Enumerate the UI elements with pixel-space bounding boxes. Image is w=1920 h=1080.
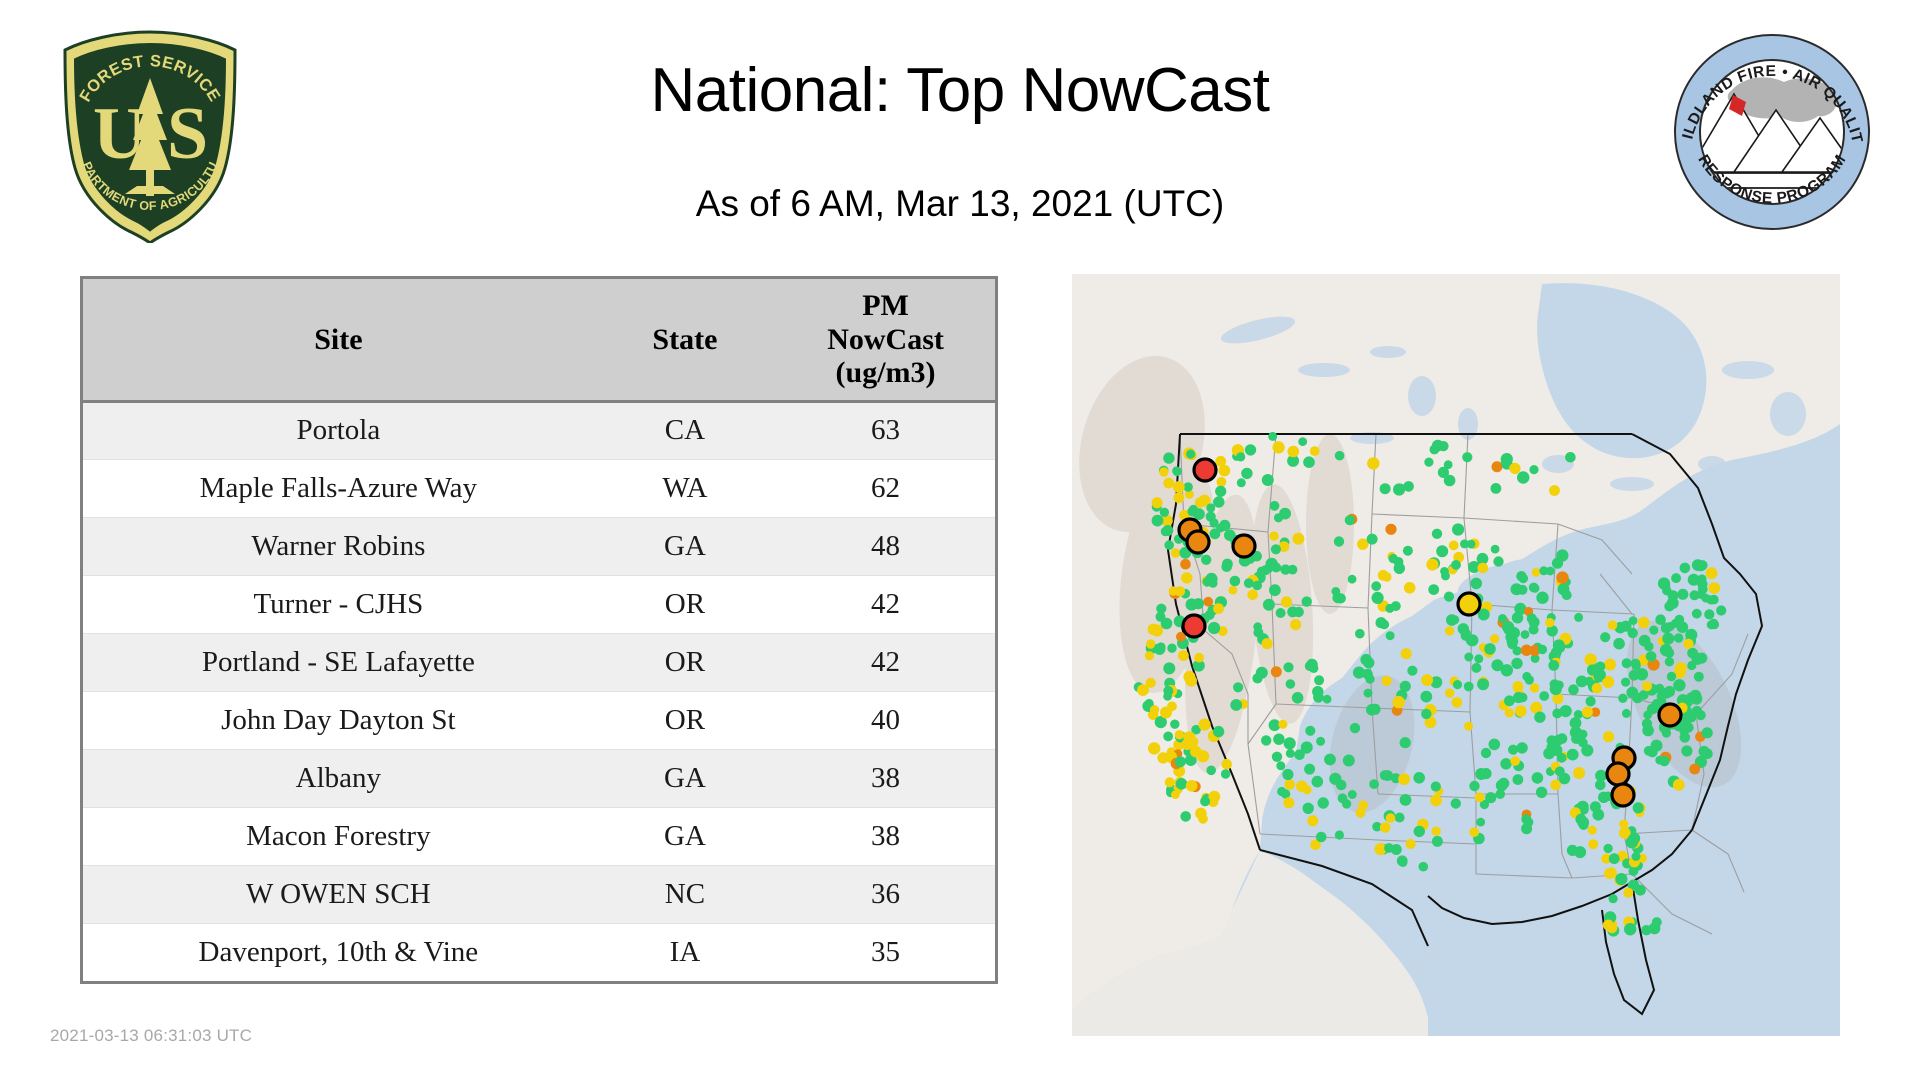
monitor-dot[interactable]	[1278, 720, 1287, 729]
monitor-dot[interactable]	[1152, 497, 1163, 508]
monitor-dot[interactable]	[1604, 659, 1616, 671]
monitor-dot[interactable]	[1178, 650, 1189, 661]
monitor-dot[interactable]	[1603, 844, 1612, 853]
monitor-dot[interactable]	[1380, 822, 1391, 833]
monitor-dot[interactable]	[1363, 657, 1374, 668]
monitor-dot[interactable]	[1673, 679, 1685, 691]
monitor-dot[interactable]	[1273, 734, 1284, 745]
monitor-dot[interactable]	[1245, 444, 1256, 455]
monitor-dot[interactable]	[1266, 558, 1278, 570]
monitor-dot[interactable]	[1273, 441, 1285, 453]
column-header-site[interactable]: Site	[83, 279, 594, 401]
monitor-dot[interactable]	[1629, 833, 1641, 845]
monitor-dot[interactable]	[1164, 540, 1174, 550]
monitor-dot[interactable]	[1201, 555, 1211, 565]
monitor-dot[interactable]	[1692, 609, 1702, 619]
monitor-dot[interactable]	[1400, 737, 1411, 748]
monitor-dot[interactable]	[1389, 554, 1398, 563]
monitor-dot[interactable]	[1163, 692, 1172, 701]
monitor-dot[interactable]	[1382, 676, 1392, 686]
monitor-dot[interactable]	[1513, 774, 1524, 785]
monitor-dot[interactable]	[1380, 620, 1390, 630]
monitor-dot[interactable]	[1269, 531, 1278, 540]
table-row[interactable]: Warner RobinsGA48	[83, 517, 995, 575]
monitor-dot[interactable]	[1316, 832, 1327, 843]
monitor-dot[interactable]	[1285, 779, 1296, 790]
monitor-dot[interactable]	[1194, 653, 1204, 663]
monitor-dot[interactable]	[1290, 619, 1301, 630]
monitor-dot[interactable]	[1304, 764, 1315, 775]
monitor-dot[interactable]	[1513, 646, 1522, 655]
monitor-dot[interactable]	[1286, 749, 1295, 758]
monitor-dot[interactable]	[1256, 667, 1268, 679]
monitor-dot[interactable]	[1661, 688, 1672, 699]
monitor-dot[interactable]	[1183, 482, 1193, 492]
monitor-dot[interactable]	[1367, 457, 1379, 469]
monitor-dot[interactable]	[1609, 894, 1618, 903]
table-row[interactable]: AlbanyGA38	[83, 749, 995, 807]
monitor-dot[interactable]	[1508, 745, 1518, 755]
monitor-dot[interactable]	[1398, 773, 1410, 785]
monitor-dot[interactable]	[1281, 596, 1292, 607]
monitor-dot[interactable]	[1571, 733, 1582, 744]
monitor-dot[interactable]	[1662, 729, 1671, 738]
monitor-dot[interactable]	[1400, 681, 1411, 692]
monitor-dot[interactable]	[1532, 772, 1544, 784]
monitor-dot[interactable]	[1370, 704, 1381, 715]
monitor-dot[interactable]	[1384, 843, 1394, 853]
monitor-dot[interactable]	[1369, 779, 1379, 789]
monitor-dot[interactable]	[1570, 717, 1582, 729]
monitor-dot[interactable]	[1588, 839, 1598, 849]
monitor-dot[interactable]	[1208, 622, 1220, 634]
monitor-dot[interactable]	[1532, 568, 1541, 577]
monitor-dot[interactable]	[1516, 742, 1527, 753]
monitor-dot[interactable]	[1165, 777, 1175, 787]
monitor-dot[interactable]	[1655, 756, 1664, 765]
monitor-dot[interactable]	[1665, 657, 1674, 666]
monitor-dot[interactable]	[1484, 643, 1496, 655]
monitor-dot[interactable]	[1496, 780, 1508, 792]
monitor-dot[interactable]	[1445, 688, 1454, 697]
monitor-dot[interactable]	[1592, 683, 1603, 694]
monitor-dot[interactable]	[1680, 732, 1691, 743]
monitor-dot[interactable]	[1176, 778, 1188, 790]
monitor-dot[interactable]	[1574, 846, 1586, 858]
monitor-dot[interactable]	[1489, 739, 1501, 751]
monitor-dot[interactable]	[1210, 528, 1221, 539]
monitor-dot[interactable]	[1582, 707, 1593, 718]
monitor-dot[interactable]	[1252, 581, 1262, 591]
monitor-dot[interactable]	[1661, 623, 1672, 634]
monitor-dot[interactable]	[1551, 647, 1562, 658]
monitor-dot[interactable]	[1342, 799, 1351, 808]
monitor-dot[interactable]	[1677, 589, 1688, 600]
monitor-dot[interactable]	[1137, 684, 1149, 696]
monitor-dot[interactable]	[1396, 484, 1405, 493]
monitor-dot[interactable]	[1444, 592, 1454, 602]
monitor-dot[interactable]	[1186, 598, 1198, 610]
monitor-dot[interactable]	[1539, 566, 1548, 575]
monitor-dot[interactable]	[1451, 560, 1461, 570]
monitor-dot[interactable]	[1704, 609, 1714, 619]
monitor-dot[interactable]	[1469, 827, 1479, 837]
monitor-dot[interactable]	[1568, 684, 1579, 695]
top-site-marker[interactable]	[1183, 615, 1205, 637]
monitor-dot[interactable]	[1230, 576, 1241, 587]
monitor-dot[interactable]	[1302, 785, 1311, 794]
monitor-dot[interactable]	[1391, 601, 1401, 611]
monitor-dot[interactable]	[1262, 638, 1273, 649]
monitor-dot[interactable]	[1294, 607, 1304, 617]
table-row[interactable]: Turner - CJHSOR42	[83, 575, 995, 633]
monitor-dot[interactable]	[1632, 693, 1643, 704]
monitor-dot[interactable]	[1280, 564, 1290, 574]
monitor-dot[interactable]	[1603, 920, 1614, 931]
monitor-dot[interactable]	[1362, 669, 1373, 680]
monitor-dot[interactable]	[1567, 749, 1579, 761]
monitor-dot[interactable]	[1534, 712, 1545, 723]
monitor-dot[interactable]	[1355, 629, 1365, 639]
monitor-dot[interactable]	[1367, 534, 1378, 545]
monitor-dot[interactable]	[1615, 873, 1627, 885]
monitor-dot[interactable]	[1203, 597, 1213, 607]
monitor-dot[interactable]	[1467, 540, 1476, 549]
monitor-dot[interactable]	[1348, 790, 1357, 799]
monitor-dot[interactable]	[1696, 710, 1706, 720]
monitor-dot[interactable]	[1421, 674, 1433, 686]
monitor-dot[interactable]	[1628, 628, 1638, 638]
monitor-dot[interactable]	[1276, 761, 1285, 770]
monitor-dot[interactable]	[1449, 541, 1459, 551]
monitor-dot[interactable]	[1386, 631, 1395, 640]
monitor-dot[interactable]	[1639, 635, 1651, 647]
monitor-dot[interactable]	[1697, 574, 1706, 583]
monitor-dot[interactable]	[1364, 689, 1373, 698]
monitor-dot[interactable]	[1406, 839, 1416, 849]
monitor-dot[interactable]	[1622, 709, 1631, 718]
monitor-dot[interactable]	[1521, 823, 1532, 834]
monitor-dot[interactable]	[1160, 508, 1169, 517]
column-header-pm-nowcast[interactable]: PM NowCast (ug/m3)	[776, 279, 995, 401]
monitor-dot[interactable]	[1547, 735, 1557, 745]
monitor-dot[interactable]	[1159, 467, 1168, 476]
monitor-dot[interactable]	[1271, 666, 1282, 677]
monitor-dot[interactable]	[1230, 699, 1242, 711]
monitor-dot[interactable]	[1694, 672, 1704, 682]
top-site-marker[interactable]	[1187, 531, 1209, 553]
monitor-dot[interactable]	[1517, 471, 1529, 483]
monitor-dot[interactable]	[1269, 584, 1281, 596]
monitor-dot[interactable]	[1213, 496, 1224, 507]
monitor-dot[interactable]	[1150, 705, 1159, 714]
monitor-dot[interactable]	[1163, 732, 1173, 742]
monitor-dot[interactable]	[1420, 691, 1432, 703]
monitor-dot[interactable]	[1549, 485, 1560, 496]
monitor-dot[interactable]	[1272, 752, 1282, 762]
monitor-dot[interactable]	[1706, 595, 1715, 604]
monitor-dot[interactable]	[1303, 456, 1315, 468]
monitor-dot[interactable]	[1453, 680, 1462, 689]
monitor-dot[interactable]	[1213, 726, 1224, 737]
monitor-dot[interactable]	[1400, 794, 1412, 806]
monitor-dot[interactable]	[1584, 653, 1596, 665]
monitor-dot[interactable]	[1426, 559, 1438, 571]
monitor-dot[interactable]	[1502, 621, 1514, 633]
monitor-dot[interactable]	[1283, 797, 1294, 808]
monitor-dot[interactable]	[1565, 452, 1576, 463]
aqi-map[interactable]: Air Quality Index HazardousVery Unhealth…	[1072, 274, 1840, 1036]
monitor-dot[interactable]	[1288, 446, 1300, 458]
monitor-dot[interactable]	[1530, 683, 1539, 692]
monitor-dot[interactable]	[1292, 692, 1304, 704]
monitor-dot[interactable]	[1689, 764, 1700, 775]
monitor-dot[interactable]	[1469, 781, 1479, 791]
monitor-dot[interactable]	[1407, 666, 1417, 676]
monitor-dot[interactable]	[1623, 888, 1633, 898]
monitor-dot[interactable]	[1536, 787, 1547, 798]
monitor-dot[interactable]	[1163, 452, 1174, 463]
monitor-dot[interactable]	[1372, 592, 1384, 604]
monitor-dot[interactable]	[1173, 481, 1185, 493]
monitor-dot[interactable]	[1588, 826, 1597, 835]
monitor-dot[interactable]	[1310, 446, 1320, 456]
monitor-dot[interactable]	[1233, 682, 1243, 692]
monitor-dot[interactable]	[1213, 603, 1224, 614]
monitor-dot[interactable]	[1403, 546, 1413, 556]
monitor-dot[interactable]	[1200, 796, 1210, 806]
monitor-dot[interactable]	[1633, 802, 1644, 813]
monitor-dot[interactable]	[1452, 697, 1463, 708]
monitor-dot[interactable]	[1199, 719, 1211, 731]
monitor-dot[interactable]	[1604, 868, 1615, 879]
monitor-dot[interactable]	[1674, 633, 1684, 643]
top-site-marker[interactable]	[1607, 763, 1629, 785]
monitor-dot[interactable]	[1428, 584, 1439, 595]
monitor-dot[interactable]	[1445, 626, 1454, 635]
monitor-dot[interactable]	[1695, 560, 1706, 571]
monitor-dot[interactable]	[1530, 584, 1539, 593]
monitor-dot[interactable]	[1671, 573, 1681, 583]
monitor-dot[interactable]	[1162, 525, 1173, 536]
monitor-dot[interactable]	[1689, 690, 1701, 702]
monitor-dot[interactable]	[1609, 853, 1620, 864]
monitor-dot[interactable]	[1539, 691, 1549, 701]
monitor-dot[interactable]	[1590, 801, 1601, 812]
monitor-dot[interactable]	[1371, 581, 1381, 591]
top-site-marker[interactable]	[1659, 704, 1681, 726]
monitor-dot[interactable]	[1424, 458, 1433, 467]
monitor-dot[interactable]	[1438, 467, 1449, 478]
monitor-dot[interactable]	[1244, 578, 1254, 588]
monitor-dot[interactable]	[1393, 696, 1405, 708]
monitor-dot[interactable]	[1276, 608, 1286, 618]
monitor-dot[interactable]	[1555, 766, 1565, 776]
monitor-dot[interactable]	[1675, 662, 1687, 674]
monitor-dot[interactable]	[1629, 616, 1638, 625]
monitor-dot[interactable]	[1430, 795, 1442, 807]
monitor-dot[interactable]	[1621, 678, 1630, 687]
monitor-dot[interactable]	[1707, 620, 1716, 629]
monitor-dot[interactable]	[1475, 792, 1485, 802]
monitor-dot[interactable]	[1345, 515, 1355, 525]
monitor-dot[interactable]	[1474, 654, 1483, 663]
monitor-dot[interactable]	[1171, 790, 1180, 799]
monitor-dot[interactable]	[1436, 545, 1448, 557]
monitor-dot[interactable]	[1622, 658, 1632, 668]
monitor-dot[interactable]	[1491, 545, 1500, 554]
monitor-dot[interactable]	[1515, 705, 1527, 717]
monitor-dot[interactable]	[1314, 675, 1324, 685]
monitor-dot[interactable]	[1673, 779, 1685, 791]
table-row[interactable]: Macon ForestryGA38	[83, 807, 995, 865]
monitor-dot[interactable]	[1548, 660, 1559, 671]
monitor-dot[interactable]	[1205, 573, 1217, 585]
monitor-dot[interactable]	[1492, 461, 1503, 472]
monitor-dot[interactable]	[1182, 739, 1193, 750]
monitor-dot[interactable]	[1600, 632, 1610, 642]
monitor-dot[interactable]	[1331, 587, 1340, 596]
monitor-dot[interactable]	[1210, 518, 1219, 527]
monitor-dot[interactable]	[1432, 827, 1441, 836]
monitor-dot[interactable]	[1481, 748, 1491, 758]
monitor-dot[interactable]	[1171, 548, 1180, 557]
monitor-dot[interactable]	[1414, 826, 1425, 837]
monitor-dot[interactable]	[1557, 753, 1567, 763]
monitor-dot[interactable]	[1356, 808, 1366, 818]
monitor-dot[interactable]	[1493, 556, 1503, 566]
monitor-dot[interactable]	[1261, 735, 1271, 745]
monitor-dot[interactable]	[1181, 572, 1192, 583]
monitor-dot[interactable]	[1174, 492, 1185, 503]
monitor-dot[interactable]	[1662, 586, 1671, 595]
monitor-dot[interactable]	[1302, 745, 1311, 754]
monitor-dot[interactable]	[1631, 659, 1641, 669]
monitor-dot[interactable]	[1619, 820, 1628, 829]
monitor-dot[interactable]	[1283, 662, 1293, 672]
monitor-dot[interactable]	[1335, 451, 1345, 461]
monitor-dot[interactable]	[1603, 731, 1614, 742]
monitor-dot[interactable]	[1575, 814, 1586, 825]
monitor-dot[interactable]	[1217, 477, 1227, 487]
monitor-dot[interactable]	[1485, 792, 1496, 803]
monitor-dot[interactable]	[1638, 617, 1650, 629]
monitor-dot[interactable]	[1247, 590, 1258, 601]
monitor-dot[interactable]	[1401, 648, 1412, 659]
monitor-dot[interactable]	[1527, 613, 1537, 623]
monitor-dot[interactable]	[1382, 572, 1391, 581]
monitor-dot[interactable]	[1649, 626, 1658, 635]
monitor-dot[interactable]	[1667, 672, 1676, 681]
monitor-dot[interactable]	[1505, 708, 1514, 717]
top-site-marker[interactable]	[1194, 459, 1216, 481]
monitor-dot[interactable]	[1148, 742, 1160, 754]
monitor-dot[interactable]	[1608, 620, 1618, 630]
monitor-dot[interactable]	[1660, 644, 1672, 656]
monitor-dot[interactable]	[1316, 737, 1325, 746]
monitor-dot[interactable]	[1667, 597, 1679, 609]
monitor-dot[interactable]	[1221, 769, 1230, 778]
monitor-dot[interactable]	[1478, 563, 1489, 574]
monitor-dot[interactable]	[1229, 586, 1238, 595]
monitor-dot[interactable]	[1145, 651, 1154, 660]
monitor-dot[interactable]	[1511, 658, 1522, 669]
monitor-dot[interactable]	[1195, 497, 1205, 507]
monitor-dot[interactable]	[1303, 803, 1314, 814]
monitor-dot[interactable]	[1193, 508, 1205, 520]
monitor-dot[interactable]	[1521, 814, 1531, 824]
monitor-dot[interactable]	[1432, 836, 1443, 847]
monitor-dot[interactable]	[1175, 730, 1184, 739]
monitor-dot[interactable]	[1172, 466, 1181, 475]
monitor-dot[interactable]	[1642, 681, 1652, 691]
table-row[interactable]: Davenport, 10th & VineIA35	[83, 923, 995, 981]
monitor-dot[interactable]	[1441, 571, 1450, 580]
top-site-marker[interactable]	[1233, 535, 1255, 557]
monitor-dot[interactable]	[1431, 781, 1441, 791]
monitor-dot[interactable]	[1552, 708, 1562, 718]
monitor-dot[interactable]	[1329, 773, 1341, 785]
monitor-dot[interactable]	[1491, 659, 1503, 671]
monitor-dot[interactable]	[1305, 726, 1315, 736]
monitor-dot[interactable]	[1219, 520, 1230, 531]
monitor-dot[interactable]	[1706, 567, 1718, 579]
monitor-dot[interactable]	[1318, 797, 1329, 808]
monitor-dot[interactable]	[1618, 694, 1627, 703]
monitor-dot[interactable]	[1529, 625, 1539, 635]
monitor-dot[interactable]	[1313, 692, 1324, 703]
monitor-dot[interactable]	[1348, 575, 1357, 584]
monitor-dot[interactable]	[1350, 723, 1360, 733]
monitor-dot[interactable]	[1681, 745, 1692, 756]
monitor-dot[interactable]	[1510, 756, 1520, 766]
monitor-dot[interactable]	[1385, 524, 1396, 535]
monitor-dot[interactable]	[1517, 585, 1527, 595]
monitor-dot[interactable]	[1521, 630, 1530, 639]
monitor-dot[interactable]	[1236, 452, 1245, 461]
monitor-dot[interactable]	[1574, 613, 1583, 622]
monitor-dot[interactable]	[1680, 563, 1691, 574]
monitor-dot[interactable]	[1550, 780, 1561, 791]
monitor-dot[interactable]	[1595, 780, 1606, 791]
monitor-dot[interactable]	[1386, 813, 1396, 823]
monitor-dot[interactable]	[1167, 644, 1176, 653]
monitor-dot[interactable]	[1323, 695, 1332, 704]
monitor-dot[interactable]	[1476, 818, 1485, 827]
monitor-dot[interactable]	[1175, 586, 1185, 596]
monitor-dot[interactable]	[1205, 610, 1215, 620]
monitor-dot[interactable]	[1646, 651, 1657, 662]
monitor-dot[interactable]	[1556, 571, 1568, 583]
monitor-dot[interactable]	[1536, 592, 1548, 604]
monitor-dot[interactable]	[1307, 815, 1318, 826]
monitor-dot[interactable]	[1642, 725, 1654, 737]
monitor-dot[interactable]	[1525, 675, 1534, 684]
monitor-dot[interactable]	[1312, 776, 1324, 788]
monitor-dot[interactable]	[1335, 830, 1344, 839]
monitor-dot[interactable]	[1556, 549, 1568, 561]
monitor-dot[interactable]	[1334, 536, 1344, 546]
monitor-dot[interactable]	[1538, 645, 1547, 654]
top-site-marker[interactable]	[1458, 593, 1480, 615]
monitor-dot[interactable]	[1505, 632, 1515, 642]
column-header-state[interactable]: State	[594, 279, 776, 401]
monitor-dot[interactable]	[1380, 483, 1391, 494]
monitor-dot[interactable]	[1446, 614, 1458, 626]
monitor-dot[interactable]	[1512, 612, 1523, 623]
monitor-dot[interactable]	[1270, 501, 1280, 511]
monitor-dot[interactable]	[1574, 710, 1583, 719]
